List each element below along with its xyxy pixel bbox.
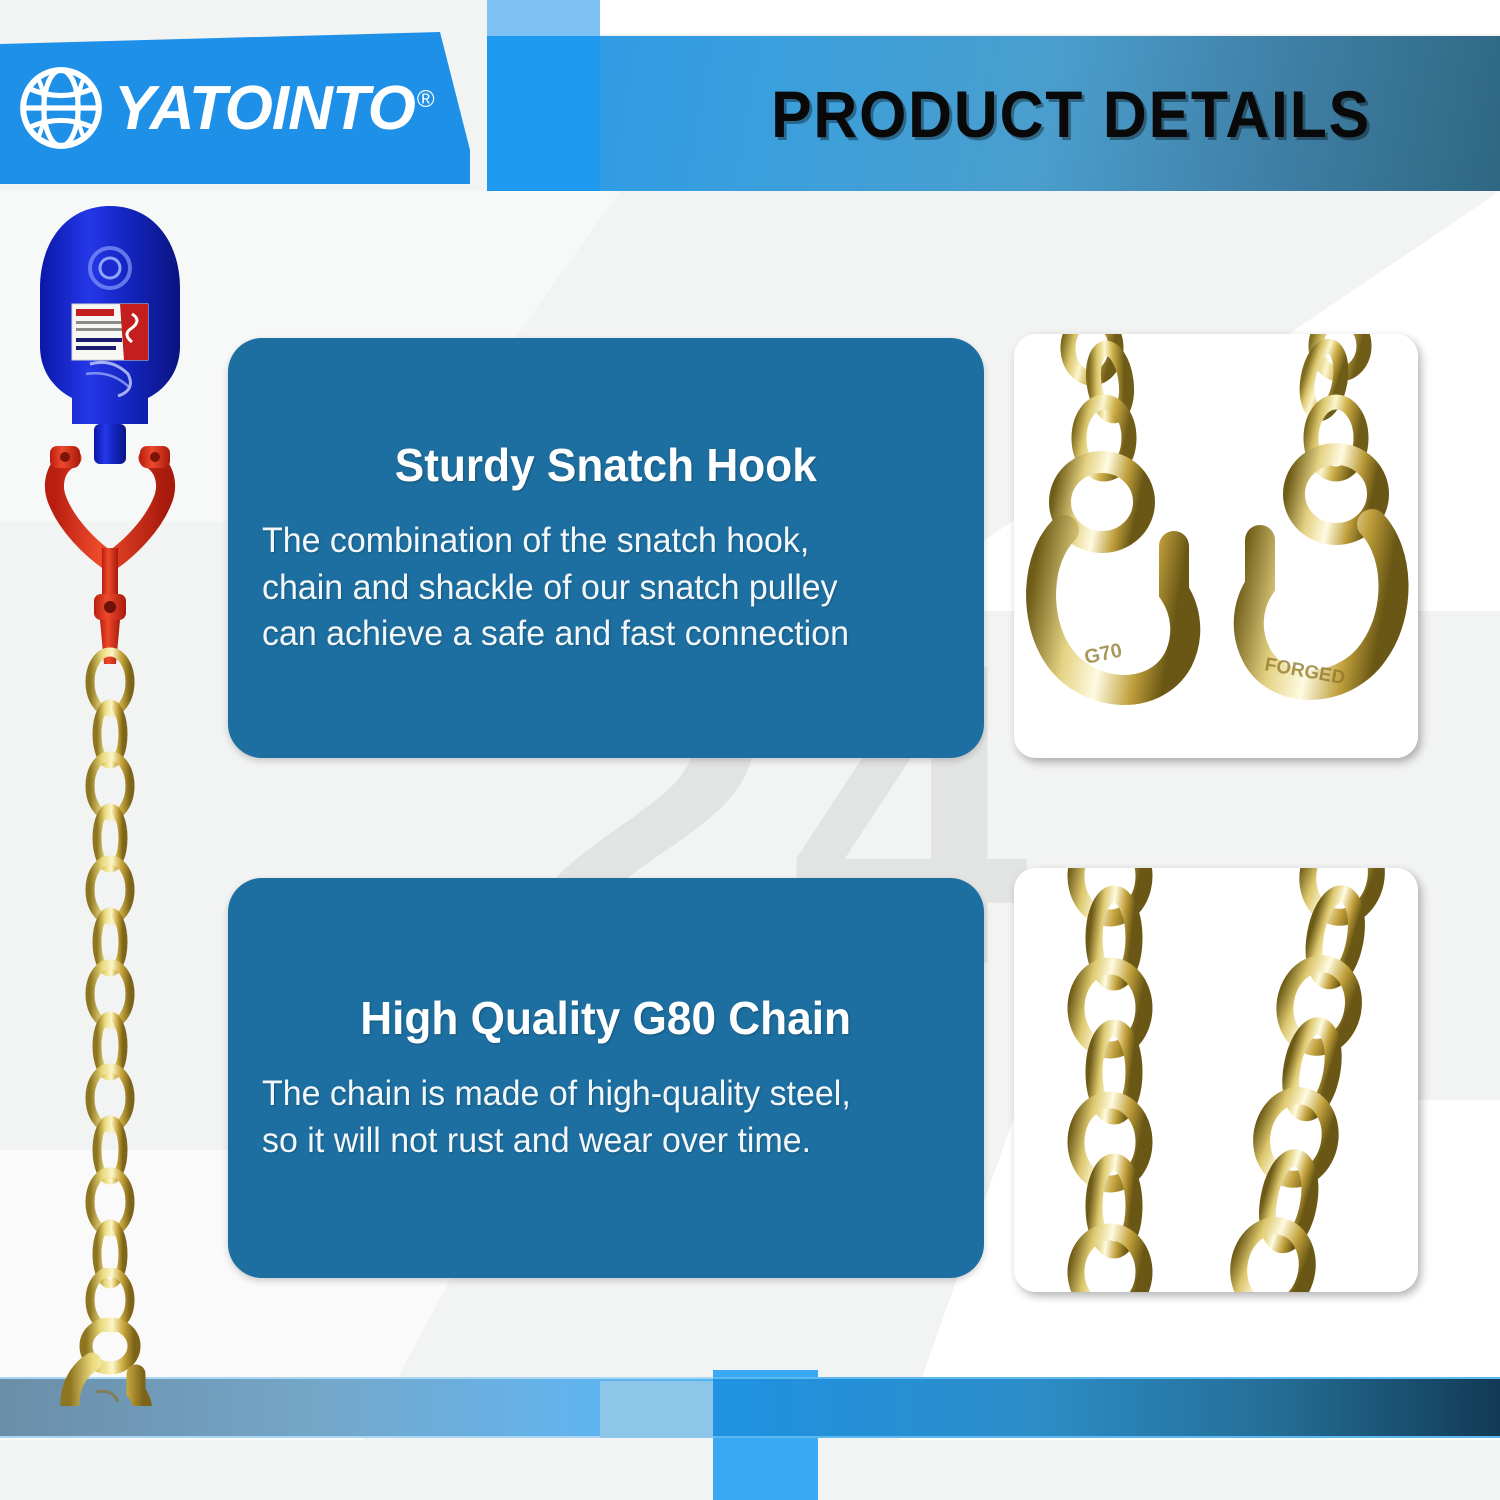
feature-card-body-line: so it will not rust and wear over time.	[262, 1118, 929, 1165]
globe-icon	[18, 65, 104, 151]
feature-card-body: The chain is made of high-quality steel,…	[262, 1071, 929, 1164]
feature-card-body-line: The combination of the snatch hook,	[262, 518, 929, 565]
feature-card-body-line: chain and shackle of our snatch pulley	[262, 565, 929, 612]
footer-accent-tab-pale	[600, 1381, 718, 1438]
feature-card-title: Sturdy Snatch Hook	[395, 438, 817, 492]
feature-card-title: High Quality G80 Chain	[361, 991, 852, 1045]
header-band: PRODUCT DETAILS	[487, 36, 1500, 191]
feature-card-body-line: can achieve a safe and fast connection	[262, 611, 929, 658]
grab-hooks-pair-photo: G70 FORGED	[1014, 334, 1418, 758]
registered-trademark-icon: ®	[417, 86, 434, 113]
brand-logo-banner[interactable]: YATOINTO®	[0, 32, 470, 184]
feature-card-body: The combination of the snatch hook, chai…	[262, 518, 929, 658]
background-sheet-top	[600, 0, 1500, 34]
page-title: PRODUCT DETAILS	[672, 36, 1500, 191]
g80-chain-closeup-photo	[1014, 868, 1418, 1292]
feature-card-high-quality-g80-chain: High Quality G80 Chain The chain is made…	[228, 878, 984, 1278]
feature-card-sturdy-snatch-hook: Sturdy Snatch Hook The combination of th…	[228, 338, 984, 758]
header-left-block	[487, 36, 600, 191]
footer-band-right	[713, 1377, 1500, 1438]
header-accent-tab	[487, 0, 600, 36]
page-title-text: PRODUCT DETAILS	[771, 76, 1371, 152]
brand-name-text: YATOINTO	[114, 74, 415, 143]
snatch-pulley-with-chain-image	[20, 196, 220, 1406]
brand-name: YATOINTO®	[114, 73, 434, 144]
feature-card-body-line: The chain is made of high-quality steel,	[262, 1071, 929, 1118]
product-details-page: 2 4 PRODUCT DETAILS YATOINTO®	[0, 0, 1500, 1500]
